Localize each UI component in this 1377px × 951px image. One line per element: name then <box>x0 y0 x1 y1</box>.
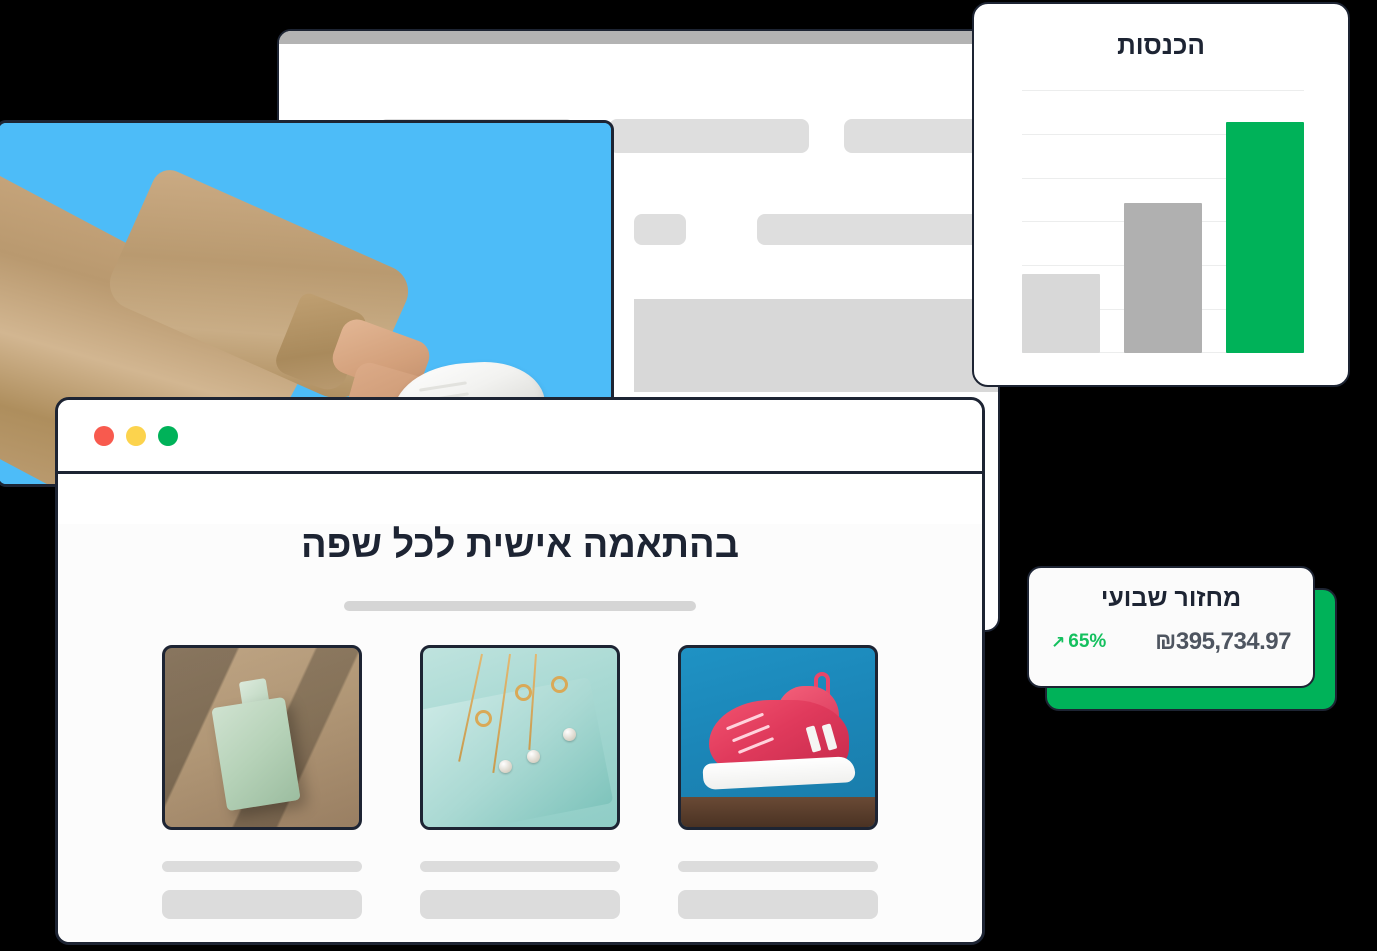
product-card-sneaker[interactable] <box>678 645 878 919</box>
turnover-title: מחזור שבועי <box>1051 584 1291 613</box>
skeleton-pill <box>609 119 809 153</box>
maximize-window-button[interactable] <box>158 426 178 446</box>
chart-plot-area <box>1022 90 1304 353</box>
product-grid <box>58 645 982 919</box>
main-browser-window: בהתאמה אישית לכל שפה <box>55 397 985 945</box>
product-card-jewelry[interactable] <box>420 645 620 919</box>
turnover-delta-value: 65% <box>1068 631 1106 653</box>
crystal-pendant <box>527 750 540 763</box>
product-title-placeholder <box>162 861 362 872</box>
weekly-turnover-widget: מחזור שבועי ₪395,734.97 ↗ 65% <box>1027 566 1337 711</box>
chart-bar-1 <box>1022 274 1100 353</box>
perfume-image <box>162 645 362 830</box>
minimize-window-button[interactable] <box>126 426 146 446</box>
window-controls <box>94 426 178 446</box>
main-window-body: בהתאמה אישית לכל שפה <box>58 524 982 945</box>
product-action-placeholder <box>162 890 362 919</box>
skeleton-pill <box>757 214 1000 245</box>
weekly-turnover-card[interactable]: מחזור שבועי ₪395,734.97 ↗ 65% <box>1027 566 1315 688</box>
product-action-placeholder <box>678 890 878 919</box>
skeleton-pill <box>634 214 686 245</box>
heading-underline <box>344 601 696 611</box>
product-card-perfume[interactable] <box>162 645 362 919</box>
jewelry-image <box>420 645 620 830</box>
screenshot-stage: בהתאמה אישית לכל שפה <box>0 0 1377 951</box>
page-title: בהתאמה אישית לכל שפה <box>58 524 982 567</box>
background-window-titlebar <box>279 31 998 44</box>
jewelry-gift-box <box>420 677 613 830</box>
turnover-stats-row: ₪395,734.97 ↗ 65% <box>1051 628 1291 656</box>
crystal-pendant <box>499 760 512 773</box>
turnover-amount: ₪395,734.97 <box>1155 628 1291 656</box>
crystal-pendant <box>563 728 576 741</box>
chart-bars <box>1022 90 1304 353</box>
gold-ring <box>475 710 492 727</box>
turnover-delta: ↗ 65% <box>1051 631 1106 653</box>
chart-bar-3 <box>1226 122 1304 353</box>
gold-ring <box>515 684 532 701</box>
chart-title: הכנסות <box>974 30 1348 61</box>
arrow-up-right-icon: ↗ <box>1051 634 1065 651</box>
sneaker-image <box>678 645 878 830</box>
product-action-placeholder <box>420 890 620 919</box>
wooden-floor <box>681 797 875 827</box>
close-window-button[interactable] <box>94 426 114 446</box>
revenue-chart-card: הכנסות <box>972 2 1350 387</box>
product-title-placeholder <box>420 861 620 872</box>
product-title-placeholder <box>678 861 878 872</box>
background-content-block <box>634 299 1000 392</box>
main-window-titlebar <box>58 400 982 474</box>
gold-ring <box>551 676 568 693</box>
perfume-bottle <box>211 697 300 811</box>
chart-bar-2 <box>1124 203 1202 353</box>
